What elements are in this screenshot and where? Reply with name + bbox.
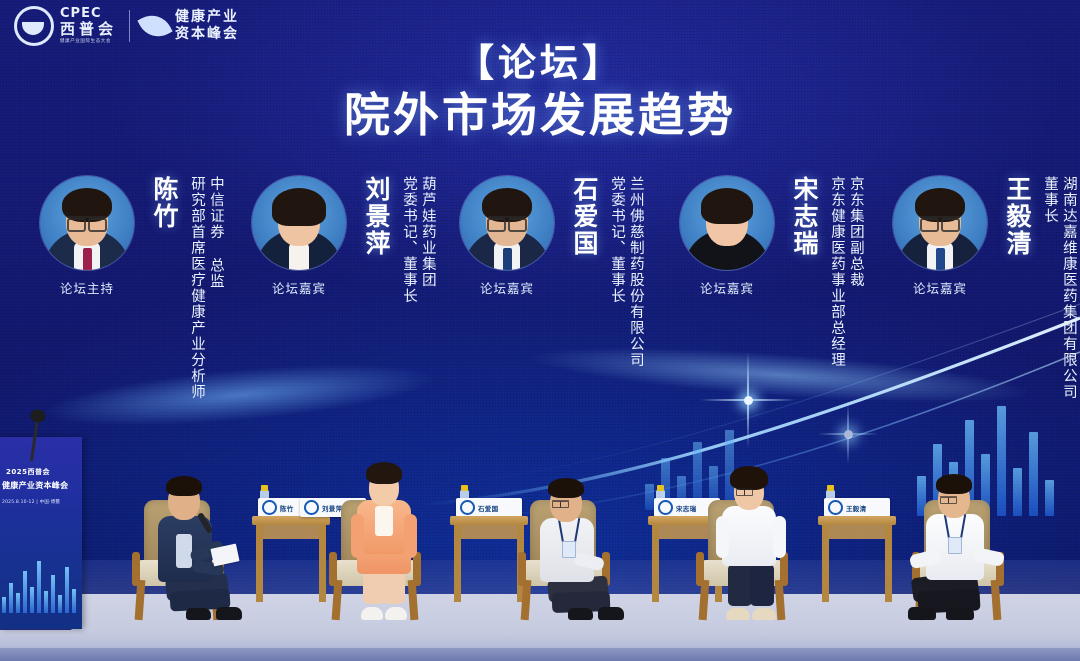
panelist-title-line-2a: 葫芦娃药业集团: [419, 176, 435, 304]
seat-group-2: [325, 455, 455, 620]
panelist-title-line-3b: 党委书记、董事长: [608, 176, 624, 368]
glasses-icon-5: [940, 496, 957, 502]
summit-logo-line2: 资本峰会: [175, 26, 239, 44]
rollup-banner: 2025西普会 健康产业资本峰会 2025.8.10-12 | 中国·博鳌: [0, 437, 82, 629]
seat-group-3: [512, 455, 652, 620]
panelist-titles-1: 中信证券 总监 研究部首席医疗健康产业分析师: [185, 176, 223, 400]
logo-cn-text: 西普会: [60, 22, 117, 37]
panelist-name-4: 宋志瑞: [786, 176, 822, 257]
panelist-role-3: 论坛嘉宾: [460, 278, 554, 297]
cpec-logo-icon: [14, 6, 54, 46]
forum-title-block: 【论坛】 院外市场发展趋势: [0, 42, 1080, 143]
panelist-titles-4: 京东集团副总裁 京东健康医药事业部总经理: [825, 176, 863, 368]
cpec-logo-text: CPEC 西普会 健康产业国际生态大会: [60, 7, 117, 45]
banner-line2: 健康产业资本峰会: [2, 480, 82, 491]
forum-title-line1: 【论坛】: [0, 42, 1080, 86]
nameplate-name-5: 王毅清: [846, 503, 866, 513]
paper-notes: [210, 543, 239, 566]
conference-stage-photo: CPEC 西普会 健康产业国际生态大会 健康产业 资本峰会 【论坛】 院外市场发…: [0, 0, 1080, 661]
panelist-avatar-3: [460, 176, 554, 270]
panelist-role-5: 论坛嘉宾: [893, 278, 987, 297]
logo-divider: [129, 10, 130, 42]
seat-group-4: [690, 455, 820, 620]
logo-en-text: CPEC: [60, 7, 117, 20]
nameplate-logo-icon-1: [262, 500, 277, 515]
panelist-person-2: [339, 455, 429, 620]
nameplate-logo-icon-5: [828, 500, 843, 515]
panelist-title-line-2b: 党委书记、董事长: [400, 176, 416, 304]
panelist-name-1: 陈竹: [146, 176, 182, 230]
person-4-torso: [722, 506, 776, 566]
panelist-avatar-5: [893, 176, 987, 270]
banner-date: 2025.8.10-12 | 中国·博鳌: [2, 499, 82, 505]
panelist-photo-column-4: 论坛嘉宾: [680, 176, 784, 297]
panelist-name-3: 石爱国: [566, 176, 602, 257]
panelist-avatar-1: [40, 176, 134, 270]
panelist-card-5: 论坛嘉宾 王毅清 湖南达嘉维康医药集团有限公司 董事长: [893, 176, 1076, 400]
panelist-person-4: [704, 455, 798, 620]
panelist-role-2: 论坛嘉宾: [252, 278, 346, 297]
stage-floor-edge: [0, 648, 1080, 661]
panelist-person-3: [520, 455, 630, 620]
nameplate-name-3: 石爱国: [478, 503, 498, 513]
panelist-person-1: [140, 455, 250, 620]
banner-bar-graphic: [2, 561, 76, 613]
side-table-4: 王毅清: [818, 516, 896, 602]
panelist-title-line-1a: 中信证券 总监: [207, 176, 223, 400]
panelist-person-5: [894, 455, 1014, 620]
panelist-photo-column-1: 论坛主持: [40, 176, 144, 297]
panelist-card-2: 论坛嘉宾 刘景萍 葫芦娃药业集团 党委书记、董事长: [252, 176, 435, 304]
panelist-card-3: 论坛嘉宾 石爱国 兰州佛慈制药股份有限公司 党委书记、董事长: [460, 176, 643, 368]
panelist-titles-5: 湖南达嘉维康医药集团有限公司 董事长: [1038, 176, 1076, 400]
panelist-card-1: 论坛主持 陈竹 中信证券 总监 研究部首席医疗健康产业分析师: [40, 176, 223, 400]
panelist-titles-2: 葫芦娃药业集团 党委书记、董事长: [397, 176, 435, 304]
panelist-avatar-4: [680, 176, 774, 270]
summit-logo-text: 健康产业 资本峰会: [175, 9, 239, 44]
forum-title-line2: 院外市场发展趋势: [0, 88, 1080, 143]
badge-5: [948, 537, 962, 554]
panelist-name-5: 王毅清: [999, 176, 1035, 257]
panelist-photo-column-2: 论坛嘉宾: [252, 176, 356, 297]
seat-group-1: [130, 455, 270, 620]
panelist-titles-3: 兰州佛慈制药股份有限公司 党委书记、董事长: [605, 176, 643, 368]
panelist-list: 论坛主持 陈竹 中信证券 总监 研究部首席医疗健康产业分析师 论坛嘉宾 刘景萍: [0, 176, 1080, 426]
nameplate-logo-icon-4: [658, 500, 673, 515]
panelist-title-line-3a: 兰州佛慈制药股份有限公司: [627, 176, 643, 368]
nameplate-5: 王毅清: [824, 498, 890, 517]
glasses-icon-3: [552, 500, 569, 506]
banner-line1: 2025西普会: [6, 467, 82, 477]
panelist-title-line-5b: 董事长: [1041, 176, 1057, 400]
panelist-avatar-2: [252, 176, 346, 270]
panelist-role-4: 论坛嘉宾: [680, 278, 774, 297]
panelist-title-line-4b: 京东健康医药事业部总经理: [828, 176, 844, 368]
glasses-icon-4: [736, 488, 753, 494]
badge-3: [562, 541, 576, 558]
nameplate-name-1: 陈竹: [280, 503, 294, 513]
panelist-title-line-1b: 研究部首席医疗健康产业分析师: [188, 176, 204, 400]
panelist-name-2: 刘景萍: [358, 176, 394, 257]
leaf-icon: [137, 8, 172, 43]
panelist-title-line-5a: 湖南达嘉维康医药集团有限公司: [1060, 176, 1076, 400]
panelist-card-4: 论坛嘉宾 宋志瑞 京东集团副总裁 京东健康医药事业部总经理: [680, 176, 863, 368]
panelist-role-1: 论坛主持: [40, 278, 134, 297]
summit-logo-line1: 健康产业: [175, 9, 239, 27]
nameplate-logo-icon-2: [304, 500, 319, 515]
panelist-photo-column-3: 论坛嘉宾: [460, 176, 564, 297]
nameplate-logo-icon-3: [460, 500, 475, 515]
panelist-photo-column-5: 论坛嘉宾: [893, 176, 997, 297]
seat-group-5: [888, 455, 1038, 620]
panelist-title-line-4a: 京东集团副总裁: [847, 176, 863, 368]
